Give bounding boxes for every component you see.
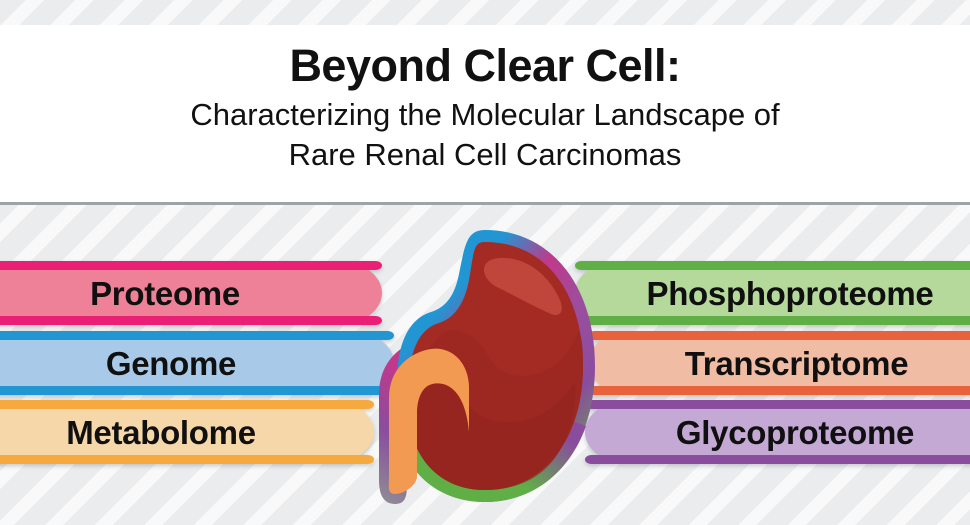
banner-stripe-top	[0, 261, 382, 270]
banner-label: Transcriptome	[588, 347, 970, 380]
banner-genome[interactable]: Genome	[0, 331, 394, 395]
banner-proteome[interactable]: Proteome	[0, 261, 382, 325]
banner-stripe-bottom	[0, 316, 382, 325]
banner-transcriptome[interactable]: Transcriptome	[588, 331, 970, 395]
page-subtitle: Characterizing the Molecular Landscape o…	[190, 95, 779, 174]
banner-label: Genome	[0, 347, 394, 380]
banner-stripe-bottom	[585, 455, 970, 464]
poster-canvas: Beyond Clear Cell: Characterizing the Mo…	[0, 0, 970, 525]
banner-stripe-top	[588, 331, 970, 340]
banner-glycoproteome[interactable]: Glycoproteome	[585, 400, 970, 464]
banner-label: Proteome	[0, 277, 382, 310]
banner-label: Metabolome	[0, 416, 374, 449]
banner-label: Phosphoproteome	[575, 277, 970, 310]
banner-phosphoproteome[interactable]: Phosphoproteome	[575, 261, 970, 325]
banner-metabolome[interactable]: Metabolome	[0, 400, 374, 464]
title-card: Beyond Clear Cell: Characterizing the Mo…	[0, 25, 970, 205]
banner-stripe-top	[575, 261, 970, 270]
banner-stripe-bottom	[0, 455, 374, 464]
banner-stripe-top	[0, 400, 374, 409]
page-subtitle-line-2: Rare Renal Cell Carcinomas	[190, 135, 779, 175]
kidney-illustration	[355, 222, 620, 512]
banner-stripe-bottom	[588, 386, 970, 395]
banner-stripe-top	[0, 331, 394, 340]
banner-label: Glycoproteome	[585, 416, 970, 449]
page-subtitle-line-1: Characterizing the Molecular Landscape o…	[190, 95, 779, 135]
banner-stripe-top	[585, 400, 970, 409]
banner-stripe-bottom	[0, 386, 394, 395]
banner-stripe-bottom	[575, 316, 970, 325]
page-title: Beyond Clear Cell:	[289, 41, 680, 91]
